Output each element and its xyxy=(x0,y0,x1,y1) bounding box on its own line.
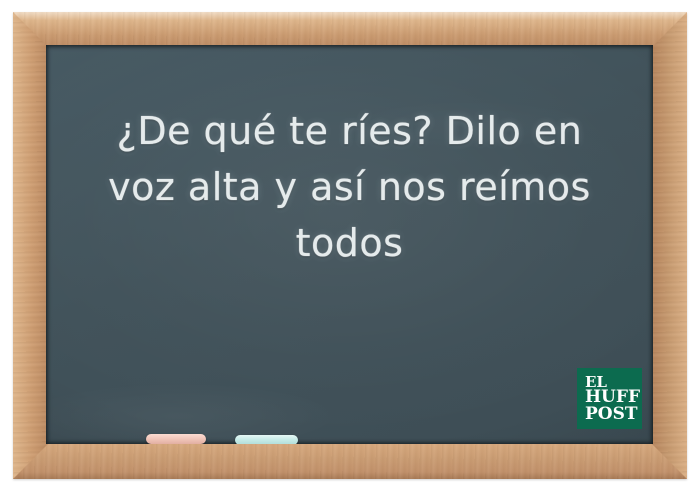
pink-chalk-stick xyxy=(146,434,206,444)
cyan-chalk-stick xyxy=(235,435,298,444)
frame-rail-bottom xyxy=(13,444,687,479)
chalk-quote-line-1: ¿De qué te ríes? Dilo en xyxy=(46,103,653,159)
wooden-frame: ¿De qué te ríes? Dilo en voz alta y así … xyxy=(13,12,687,479)
chalk-quote: ¿De qué te ríes? Dilo en voz alta y así … xyxy=(46,103,653,272)
frame-rail-left xyxy=(13,12,47,479)
chalk-quote-line-3: todos xyxy=(46,215,653,271)
chalkboard-surface: ¿De qué te ríes? Dilo en voz alta y así … xyxy=(46,45,653,444)
chalkboard-image: ¿De qué te ríes? Dilo en voz alta y así … xyxy=(0,0,700,495)
chalk-quote-line-2: voz alta y así nos reímos xyxy=(46,159,653,215)
frame-rail-top xyxy=(13,12,687,45)
logo-line-post: POST xyxy=(585,406,642,423)
el-huff-post-logo: EL HUFF POST xyxy=(577,368,642,429)
frame-rail-right xyxy=(653,12,687,479)
